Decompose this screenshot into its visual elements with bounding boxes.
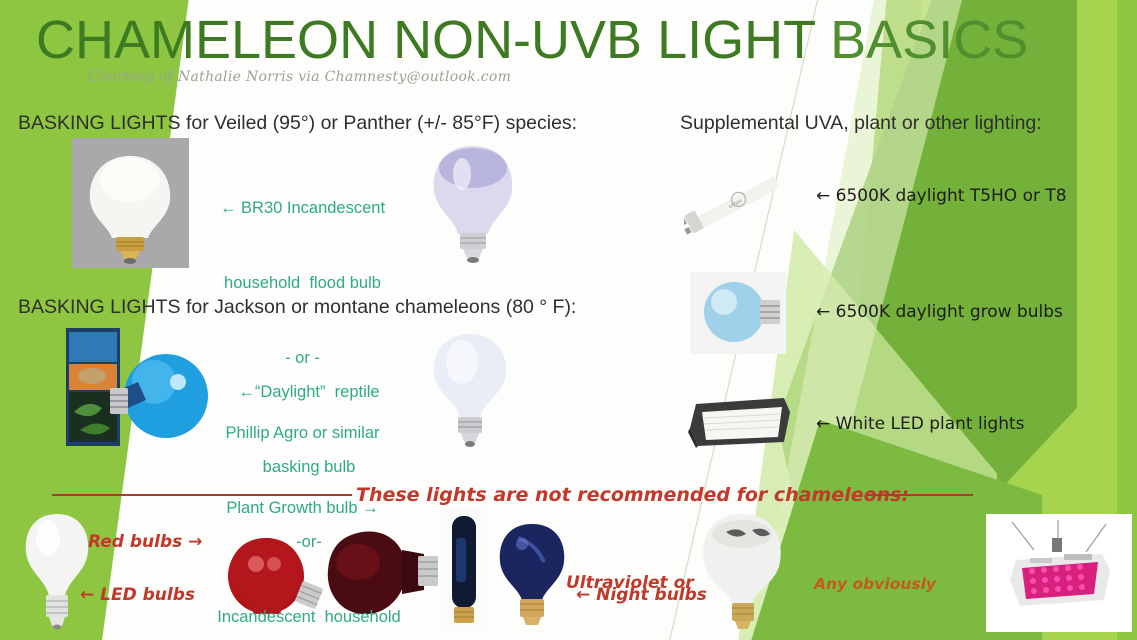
page-title: CHAMELEON NON-UVB LIGHT BASICS [36,10,1028,70]
caption-line: Incandescent household [200,605,418,630]
blue-daylight-reptile-bulb-photo [66,326,216,451]
caption-line: household flood bulb [200,271,405,296]
section-heading-basking-jackson: BASKING LIGHTS for Jackson or montane ch… [18,296,576,319]
pink-led-grow-panel-photo [986,514,1132,632]
byline: Courtesy of Nathalie Norris via Chamnest… [88,69,511,85]
blue-tube-bulb-photo [442,508,486,634]
supplemental-item-label-t5ho: ← 6500K daylight T5HO or T8 [816,186,1067,206]
non-white-bulbs-note: Any obviously non-white shining bulbs LE… [814,532,964,640]
blue-night-bulb-photo [494,518,570,632]
led-bulbs-label: ← LED bulbs [80,584,195,607]
page-title-accent: BASICS [830,10,1028,70]
caption-line: ← BR30 Incandescent [200,196,405,221]
supplemental-item-label-white-led: ← White LED plant lights [816,414,1025,434]
led-flood-panel-photo [686,388,794,454]
ultraviolet-heat-bulbs-label: Ultraviolet or “heat” bulbs → [566,526,710,640]
page-title-main: CHAMELEON NON-UVB LIGHT [36,10,815,70]
incandescent-household-bulb-photo [420,328,520,450]
not-recommended-banner: These lights are not recommended for cha… [356,484,909,506]
red-bulbs-label: Red bulbs → [88,531,202,554]
section-heading-basking-veiled: BASKING LIGHTS for Veiled (95°) or Panth… [18,112,577,135]
banner-rule-right [868,494,973,496]
plant-growth-bulb-photo [418,134,528,266]
infographic-poster: CHAMELEON NON-UVB LIGHT BASICS Courtesy … [0,0,1137,640]
t5ho-tube-photo: 6500K [684,160,788,246]
blue-grow-bulb-photo [690,272,786,354]
caption-line: ←“Daylight” reptile [200,380,418,405]
night-bulbs-label: ← Night bulbs [576,584,707,607]
white-led-bulb-photo [18,508,96,632]
supplemental-item-label-grow-bulbs: ← 6500K daylight grow bulbs [816,302,1063,322]
banner-rule-left [52,494,352,496]
caption-line: basking bulb [200,455,418,480]
caption-line: -or- [200,530,418,555]
note-line: Any obviously [814,574,964,595]
br30-flood-bulb-photo [72,138,189,268]
section-heading-supplemental: Supplemental UVA, plant or other lightin… [680,112,1042,135]
